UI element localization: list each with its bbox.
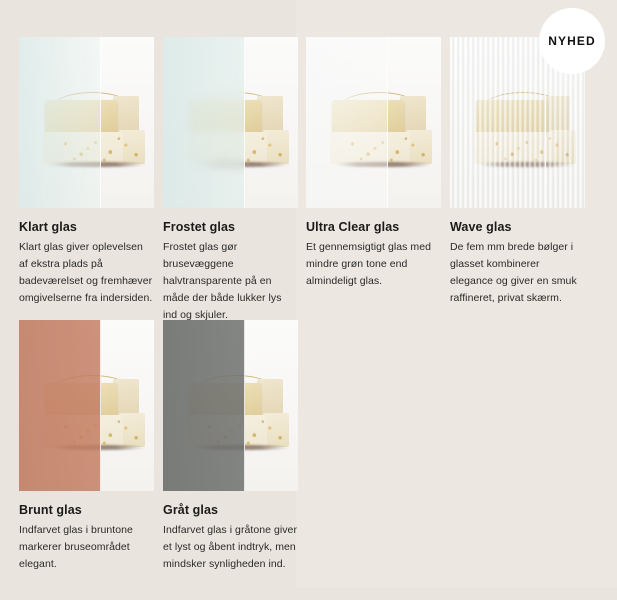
- card-image-klart-glas: [19, 37, 154, 208]
- card-klart-glas[interactable]: Klart glas Klart glas giver oplevelsen a…: [19, 37, 154, 307]
- glass-overlay-ultra-clear: [306, 37, 388, 208]
- card-body: Indfarvet glas i bruntone markerer bruse…: [19, 522, 154, 573]
- card-image-brunt-glas: [19, 320, 154, 491]
- glass-overlay-brown: [19, 320, 101, 491]
- glass-edge-line: [545, 37, 546, 208]
- card-title: Gråt glas: [163, 504, 298, 518]
- card-frostet-glas[interactable]: Frostet glas Frostet glas gør brusevægge…: [163, 37, 298, 324]
- card-brunt-glas[interactable]: Brunt glas Indfarvet glas i bruntone mar…: [19, 320, 154, 573]
- card-image-graat-glas: [163, 320, 298, 491]
- card-ultra-clear-glas[interactable]: Ultra Clear glas Et gennemsigtigt glas m…: [306, 37, 441, 290]
- card-title: Wave glas: [450, 221, 585, 235]
- card-title: Brunt glas: [19, 504, 154, 518]
- card-body: Frostet glas gør brusevæggene halvtransp…: [163, 239, 298, 324]
- glass-overlay-grey: [163, 320, 245, 491]
- card-body: Klart glas giver oplevelsen af ekstra pl…: [19, 239, 154, 307]
- card-body: De fem mm brede bølger i glasset kombine…: [450, 239, 585, 307]
- nyhed-badge[interactable]: NYHED: [539, 8, 605, 74]
- card-graat-glas[interactable]: Gråt glas Indfarvet glas i gråtone giver…: [163, 320, 298, 573]
- card-image-ultra-clear-glas: [306, 37, 441, 208]
- card-wave-glas[interactable]: Wave glas De fem mm brede bølger i glass…: [450, 37, 585, 307]
- card-title: Frostet glas: [163, 221, 298, 235]
- card-body: Et gennemsigtigt glas med mindre grøn to…: [306, 239, 441, 290]
- glass-overlay-frosted: [163, 37, 245, 208]
- card-image-frostet-glas: [163, 37, 298, 208]
- glass-overlay-clear: [19, 37, 101, 208]
- card-body: Indfarvet glas i gråtone giver et lyst o…: [163, 522, 298, 573]
- glass-type-grid: Klart glas Klart glas giver oplevelsen a…: [0, 0, 617, 600]
- card-title: Klart glas: [19, 221, 154, 235]
- card-title: Ultra Clear glas: [306, 221, 441, 235]
